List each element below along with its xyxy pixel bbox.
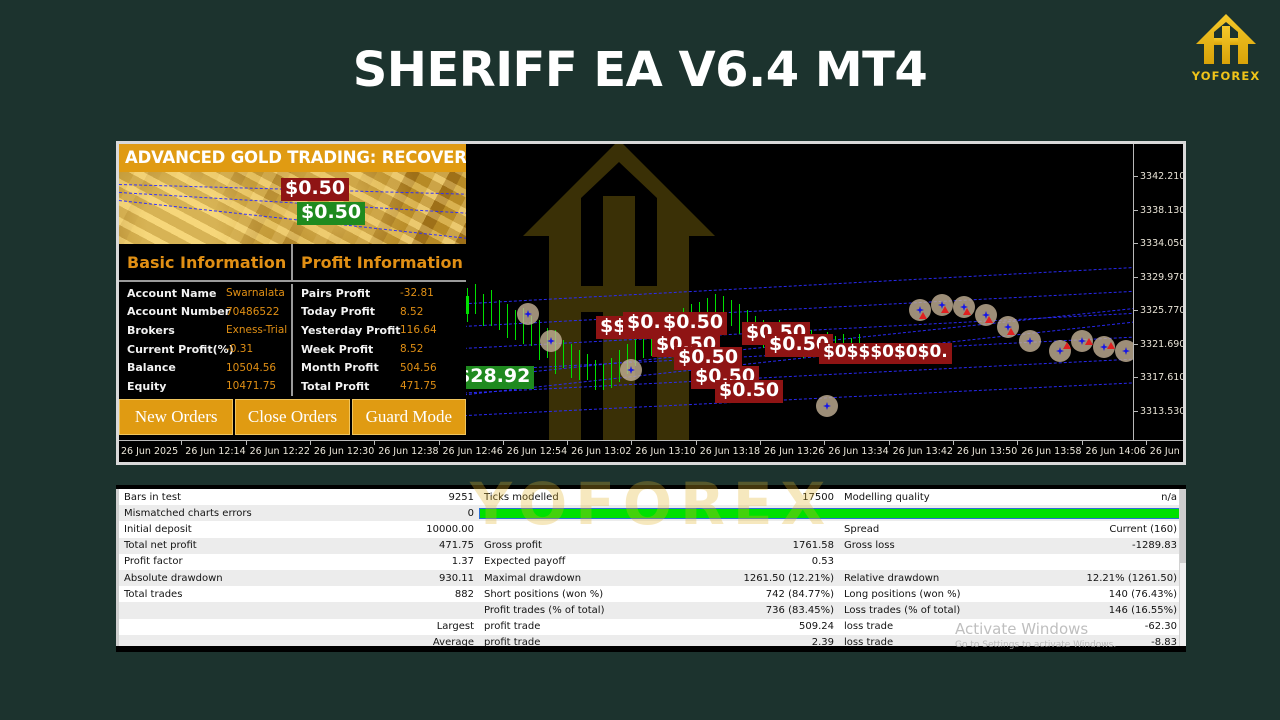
report-value: Average (354, 637, 479, 646)
report-row: Profit trades (% of total)736 (83.45%)Lo… (119, 602, 1186, 618)
report-row: Absolute drawdown930.11Maximal drawdown1… (119, 570, 1186, 586)
time-label: 26 Jun 13:50 (957, 446, 1017, 457)
report-label-3: loss trade (839, 637, 1064, 646)
chart-price-tag-lose: $0$$$0$0$0. (819, 343, 952, 364)
report-scrollbar[interactable] (1179, 489, 1186, 646)
report-label-3: Loss trades (% of total) (839, 605, 1064, 616)
order-marker[interactable] (517, 303, 539, 325)
time-label: 26 Jun 13:42 (893, 446, 953, 457)
profit-info-value: 471.75 (400, 380, 437, 392)
time-label: 26 Jun 2025 (121, 446, 178, 457)
basic-info-value: -0.31 (226, 343, 253, 355)
basic-info-row: Current Profit(%)-0.31 (119, 340, 291, 359)
time-label: 26 Jun 12:38 (378, 446, 438, 457)
time-axis[interactable]: 26 Jun 202526 Jun 12:1426 Jun 12:2226 Ju… (119, 440, 1183, 462)
report-label-3: Gross loss (839, 540, 1064, 551)
report-label-2: profit trade (479, 637, 714, 646)
price-tick (1134, 411, 1138, 412)
time-tick (760, 441, 761, 445)
time-tick (374, 441, 375, 445)
basic-info-row: Account NameSwarnalata (119, 284, 291, 303)
time-label: 26 Jun 12:14 (185, 446, 245, 457)
report-value: 1.37 (354, 556, 479, 567)
time-tick (1082, 441, 1083, 445)
profit-info-row: Today Profit8.52 (293, 303, 466, 322)
profit-info-key: Yesterday Profit (301, 324, 400, 337)
report-bottom-divider (116, 646, 1186, 652)
basic-info-key: Brokers (127, 324, 226, 337)
profit-info-key: Total Profit (301, 380, 400, 393)
chart-price-tag-lose: $0.50 (715, 380, 783, 403)
time-label: 26 Jun 12:30 (314, 446, 374, 457)
report-label-2: Ticks modelled (479, 492, 714, 503)
report-label: Absolute drawdown (119, 573, 354, 584)
ea-button-guard-mode[interactable]: Guard Mode (352, 399, 466, 435)
report-label: Initial deposit (119, 524, 354, 535)
basic-info-key: Equity (127, 380, 226, 393)
report-value-2: 509.24 (714, 621, 839, 632)
price-axis[interactable]: 3342.2103338.1303334.0503329.9703325.770… (1133, 144, 1183, 440)
basic-info-value: 10471.75 (226, 380, 276, 392)
time-tick (824, 441, 825, 445)
time-tick (631, 441, 632, 445)
report-row: Bars in test9251Ticks modelled17500Model… (119, 489, 1186, 505)
report-value-3: -8.83 (1064, 637, 1186, 646)
basic-info-value: 10504.56 (226, 362, 276, 374)
report-value: 471.75 (354, 540, 479, 551)
time-tick (696, 441, 697, 445)
section-basic-information: Basic Information (119, 244, 293, 282)
profit-info-row: Week Profit8.52 (293, 340, 466, 359)
report-value-3: 12.21% (1261.50) (1064, 573, 1186, 584)
profit-info-row: Pairs Profit-32.81 (293, 284, 466, 303)
report-value: 930.11 (354, 573, 479, 584)
price-label: 3334.050 (1140, 238, 1185, 249)
time-tick (503, 441, 504, 445)
report-value-3: 146 (16.55%) (1064, 605, 1186, 616)
time-tick (1146, 441, 1147, 445)
report-label-3: Relative drawdown (839, 573, 1064, 584)
report-row: Mismatched charts errors0 (119, 505, 1186, 521)
profit-info-key: Pairs Profit (301, 287, 400, 300)
profit-info-row: Yesterday Profit116.64 (293, 321, 466, 340)
basic-info-key: Balance (127, 361, 226, 374)
mt4-chart-window[interactable]: $2.66$10.75$28.92$$0.50$0.50$0.50$0.50$0… (116, 141, 1186, 465)
report-label: Total trades (119, 589, 354, 600)
price-label: 3313.530 (1140, 406, 1185, 417)
profit-information-list: Pairs Profit-32.81Today Profit8.52Yester… (293, 284, 466, 396)
report-value-3: n/a (1064, 492, 1186, 503)
time-tick (310, 441, 311, 445)
time-tick (889, 441, 890, 445)
time-tick (181, 441, 182, 445)
ea-banner-title: ADVANCED GOLD TRADING: RECOVERY (119, 144, 466, 172)
report-value: Largest (354, 621, 479, 632)
ea-banner: ADVANCED GOLD TRADING: RECOVERY $0.50 $0… (119, 144, 466, 244)
modelling-quality-bar (479, 508, 1181, 519)
basic-information-list: Account NameSwarnalataAccount Number7048… (119, 284, 293, 396)
order-marker[interactable] (816, 395, 838, 417)
basic-info-key: Account Number (127, 305, 226, 318)
time-tick (567, 441, 568, 445)
report-rows: Bars in test9251Ticks modelled17500Model… (119, 489, 1186, 646)
report-label-2: Maximal drawdown (479, 573, 714, 584)
report-value-3: -1289.83 (1064, 540, 1186, 551)
price-tick (1134, 277, 1138, 278)
report-row: Largestprofit trade509.24loss trade-62.3… (119, 619, 1186, 635)
basic-info-value: 70486522 (226, 306, 279, 318)
report-label: Profit factor (119, 556, 354, 567)
page-title: SHERIFF EA V6.4 MT4 (0, 42, 1280, 98)
report-value: 882 (354, 589, 479, 600)
price-tick (1134, 377, 1138, 378)
report-label-3: Modelling quality (839, 492, 1064, 503)
basic-info-row: BrokersExness-Trial (119, 321, 291, 340)
report-label: Bars in test (119, 492, 354, 503)
profit-info-key: Week Profit (301, 343, 400, 356)
report-value-3: -62.30 (1064, 621, 1186, 632)
modelling-quality-bar-cell (479, 508, 1186, 519)
time-label: 26 Jun 13:34 (828, 446, 888, 457)
time-label: 26 Jun 13:10 (635, 446, 695, 457)
report-row: Total net profit471.75Gross profit1761.5… (119, 538, 1186, 554)
time-label: 26 Jun 12:46 (443, 446, 503, 457)
time-label: 26 Jun 12:54 (507, 446, 567, 457)
report-label-2: profit trade (479, 621, 714, 632)
time-label: 26 Jun 13:58 (1021, 446, 1081, 457)
price-label: 3329.970 (1140, 272, 1185, 283)
price-label: 3321.690 (1140, 339, 1185, 350)
profit-info-value: -32.81 (400, 287, 434, 299)
time-tick (439, 441, 440, 445)
basic-info-row: Equity10471.75 (119, 377, 291, 396)
time-label: 26 Jun 14:14 (1150, 446, 1186, 457)
time-label: 26 Jun 12:22 (250, 446, 310, 457)
ea-button-new-orders[interactable]: New Orders (119, 399, 233, 435)
price-tick (1134, 344, 1138, 345)
report-label-2: Gross profit (479, 540, 714, 551)
time-tick (117, 441, 118, 445)
price-tick (1134, 310, 1138, 311)
yoforex-logo: YOFOREX (1186, 12, 1266, 90)
report-value-3: Current (160) (1064, 524, 1186, 535)
basic-info-value: Exness-Trial (226, 324, 287, 336)
report-label-3: Long positions (won %) (839, 589, 1064, 600)
report-label-2: Short positions (won %) (479, 589, 714, 600)
report-value-2: 17500 (714, 492, 839, 503)
profit-info-row: Total Profit471.75 (293, 377, 466, 396)
basic-info-row: Balance10504.56 (119, 358, 291, 377)
report-value-2: 1261.50 (12.21%) (714, 573, 839, 584)
banner-price-tag-win: $0.50 (297, 202, 365, 225)
time-tick (953, 441, 954, 445)
price-label: 3338.130 (1140, 205, 1185, 216)
profit-info-key: Today Profit (301, 305, 400, 318)
price-label: 3317.610 (1140, 372, 1185, 383)
time-label: 26 Jun 13:02 (571, 446, 631, 457)
report-value-2: 742 (84.77%) (714, 589, 839, 600)
profit-info-value: 8.52 (400, 343, 423, 355)
basic-info-key: Current Profit(%) (127, 343, 226, 356)
profit-info-value: 116.64 (400, 324, 437, 336)
profit-info-key: Month Profit (301, 361, 400, 374)
chart-price-tag-lose: $0.50 (659, 312, 727, 335)
basic-info-key: Account Name (127, 287, 226, 300)
basic-info-row: Account Number70486522 (119, 303, 291, 322)
order-marker[interactable] (1019, 330, 1041, 352)
brand-name: YOFOREX (1186, 69, 1266, 83)
banner-price-tag-loss: $0.50 (281, 178, 349, 201)
time-label: 26 Jun 13:18 (700, 446, 760, 457)
report-label-2: Profit trades (% of total) (479, 605, 714, 616)
report-label: Mismatched charts errors (119, 508, 354, 519)
report-label-3: Spread (839, 524, 1064, 535)
report-label-2: Expected payoff (479, 556, 714, 567)
price-tick (1134, 176, 1138, 177)
report-value: 10000.00 (354, 524, 479, 535)
report-row: Initial deposit10000.00SpreadCurrent (16… (119, 521, 1186, 537)
price-label: 3325.770 (1140, 305, 1185, 316)
time-tick (1017, 441, 1018, 445)
time-tick (246, 441, 247, 445)
price-tick (1134, 243, 1138, 244)
order-marker[interactable] (620, 359, 642, 381)
report-row: Averageprofit trade2.39loss trade-8.83 (119, 635, 1186, 646)
report-value-2: 2.39 (714, 637, 839, 646)
report-value-2: 1761.58 (714, 540, 839, 551)
time-label: 26 Jun 13:26 (764, 446, 824, 457)
report-value-2: 736 (83.45%) (714, 605, 839, 616)
profit-info-value: 8.52 (400, 306, 423, 318)
report-label: Total net profit (119, 540, 354, 551)
basic-info-value: Swarnalata (226, 287, 285, 299)
ea-button-close-orders[interactable]: Close Orders (235, 399, 349, 435)
report-row: Total trades882Short positions (won %)74… (119, 586, 1186, 602)
profit-info-value: 504.56 (400, 362, 437, 374)
price-tick (1134, 210, 1138, 211)
report-value: 9251 (354, 492, 479, 503)
time-label: 26 Jun 14:06 (1086, 446, 1146, 457)
report-value: 0 (354, 508, 479, 519)
yoforex-arrow-icon (1186, 12, 1266, 68)
report-value-2: 0.53 (714, 556, 839, 567)
order-marker[interactable] (540, 330, 562, 352)
strategy-tester-report[interactable]: Bars in test9251Ticks modelled17500Model… (116, 489, 1186, 646)
report-label-3: loss trade (839, 621, 1064, 632)
ea-action-buttons[interactable]: New OrdersClose OrdersGuard Mode (119, 399, 466, 435)
report-row: Profit factor1.37Expected payoff0.53 (119, 554, 1186, 570)
report-scrollbar-thumb[interactable] (1180, 489, 1186, 563)
section-profit-information: Profit Information (293, 244, 466, 282)
report-value-3: 140 (76.43%) (1064, 589, 1186, 600)
profit-info-row: Month Profit504.56 (293, 358, 466, 377)
price-label: 3342.210 (1140, 171, 1185, 182)
ea-dashboard-panel[interactable]: ADVANCED GOLD TRADING: RECOVERY $0.50 $0… (119, 144, 466, 435)
